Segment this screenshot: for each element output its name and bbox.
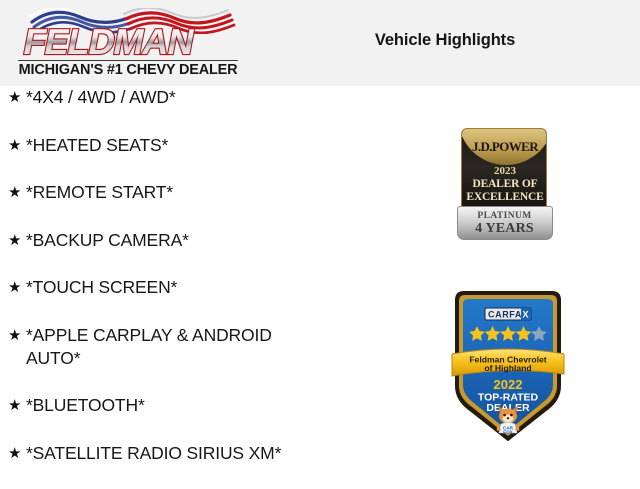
svg-text:FOX: FOX (503, 430, 513, 435)
star-bullet-icon: ★ (8, 442, 26, 465)
feldman-wordmark: FELDMAN (14, 22, 242, 62)
feldman-dealer-logo[interactable]: FELDMAN MICHIGAN'S #1 CHEVY DEALER (14, 8, 242, 82)
list-item: ★ *APPLE CARPLAY & ANDROID AUTO* (0, 324, 420, 370)
svg-text:X: X (523, 310, 529, 320)
jd-power-award-line2: EXCELLENCE (462, 191, 547, 203)
star-bullet-icon: ★ (8, 276, 26, 299)
list-item-label: *BACKUP CAMERA* (26, 229, 311, 252)
list-item-label: *APPLE CARPLAY & ANDROID AUTO* (26, 324, 311, 370)
page-title: Vehicle Highlights (300, 31, 590, 50)
list-item-label: *REMOTE START* (26, 181, 311, 204)
list-item: ★ *SATELLITE RADIO SIRIUS XM* (0, 442, 420, 465)
list-item: ★ *REMOTE START* (0, 181, 420, 204)
jd-power-plaque: J.D.POWER 2023 DEALER OF EXCELLENCE (461, 128, 547, 214)
list-item: ★ *TOUCH SCREEN* (0, 276, 420, 299)
list-item: ★ *BACKUP CAMERA* (0, 229, 420, 252)
list-item: ★ *HEATED SEATS* (0, 134, 420, 157)
star-bullet-icon: ★ (8, 394, 26, 417)
list-item: ★ *BLUETOOTH* (0, 394, 420, 417)
jd-power-award-icon: J.D.POWER 2023 DEALER OF EXCELLENCE PLAT… (457, 128, 553, 240)
star-bullet-icon: ★ (8, 324, 26, 347)
jd-power-base: PLATINUM 4 YEARS (457, 206, 553, 240)
svg-text:CARFA: CARFA (488, 310, 522, 320)
list-item-label: *4X4 / 4WD / AWD* (26, 86, 311, 109)
carfax-year: 2022 (494, 377, 523, 392)
jd-power-award-line1: DEALER OF (462, 178, 547, 190)
list-item: ★ *4X4 / 4WD / AWD* (0, 86, 420, 109)
star-bullet-icon: ★ (8, 181, 26, 204)
logo-divider (18, 60, 238, 61)
logo-tagline: MICHIGAN'S #1 CHEVY DEALER (18, 62, 238, 78)
jd-power-year: 2023 (462, 165, 547, 177)
vehicle-highlights-list: ★ *4X4 / 4WD / AWD* ★ *HEATED SEATS* ★ *… (0, 86, 420, 489)
carfax-top-rated-dealer-icon: CARFA X Feldman Chevrolet of Highland 20… (450, 288, 566, 448)
jd-power-tier: PLATINUM (458, 211, 551, 221)
jd-power-duration: 4 YEARS (458, 221, 551, 237)
star-bullet-icon: ★ (8, 229, 26, 252)
list-item-label: *BLUETOOTH* (26, 394, 311, 417)
star-bullet-icon: ★ (8, 134, 26, 157)
jd-power-brand: J.D.POWER (462, 139, 547, 155)
star-bullet-icon: ★ (8, 86, 26, 109)
list-item-label: *HEATED SEATS* (26, 134, 311, 157)
carfax-dealer-line2: of Highland (484, 363, 531, 373)
svg-text:FELDMAN: FELDMAN (20, 22, 197, 62)
list-item-label: *TOUCH SCREEN* (26, 276, 311, 299)
list-item-label: *SATELLITE RADIO SIRIUS XM* (26, 442, 311, 465)
